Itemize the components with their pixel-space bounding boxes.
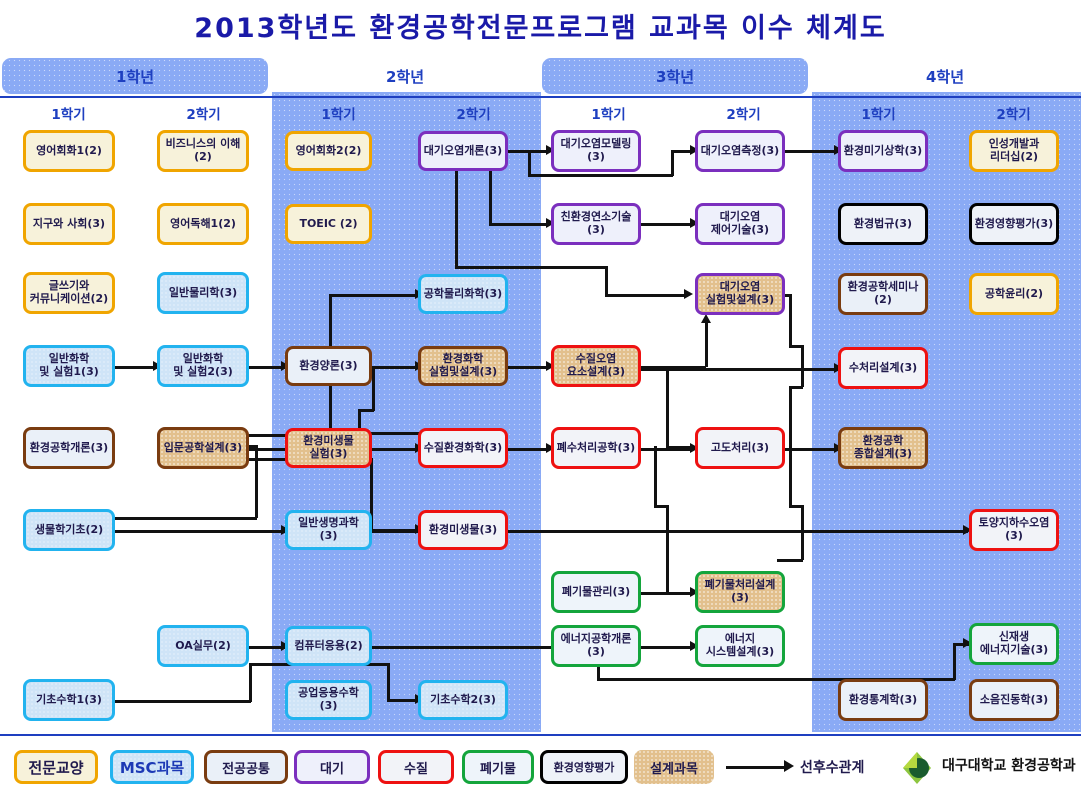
legend-item-eia[interactable]: 환경영향평가 xyxy=(540,750,628,784)
edge-airlab-spine-v3 xyxy=(789,386,792,506)
course-node[interactable]: 환경공학세미나(2) xyxy=(838,273,928,315)
edge-combust-control xyxy=(641,223,693,226)
course-node[interactable]: 기초수학2(3) xyxy=(418,680,508,720)
legend-item-air[interactable]: 대기 xyxy=(294,750,370,784)
course-node[interactable]: 대기오염개론(3) xyxy=(418,131,508,171)
course-node[interactable]: 신재생에너지기술(3) xyxy=(969,623,1059,665)
edge-oa-computer xyxy=(249,646,285,649)
course-node[interactable]: 폐기물처리설계(3) xyxy=(695,571,785,613)
edge-envchemlab-waterdesign xyxy=(508,366,548,369)
edge-airintro-airlab-h1 xyxy=(455,266,607,269)
course-node[interactable]: 컴퓨터응용(2) xyxy=(285,626,372,666)
course-node[interactable]: 수질환경화학(3) xyxy=(418,428,508,468)
legend-item-design[interactable]: 설계과목 xyxy=(634,750,714,784)
edge-waterdesign-airlab-v xyxy=(705,322,708,367)
edge-introdesign-down xyxy=(255,445,258,518)
legend-item-waste[interactable]: 폐기물 xyxy=(462,750,534,784)
course-node[interactable]: 토양지하수오염(3) xyxy=(969,509,1059,551)
edge-math2-h xyxy=(387,699,417,702)
legend-item-water[interactable]: 수질 xyxy=(378,750,454,784)
course-node[interactable]: 비즈니스의 이해(2) xyxy=(157,130,249,172)
page-title: 2013학년도 환경공학전문프로그램 교과목 이수 체계도 xyxy=(0,6,1081,45)
course-node[interactable]: 대기오염측정(3) xyxy=(695,130,785,172)
edge-airintro-meas-h1 xyxy=(528,174,673,177)
edge-waterdesign-waterplant xyxy=(641,368,838,371)
edge-airintro-airlab-v2 xyxy=(605,266,608,294)
legend-divider xyxy=(0,734,1081,736)
course-node[interactable]: 에너지공학개론(3) xyxy=(551,625,641,667)
edge-math2-v xyxy=(387,663,390,700)
edge-envstoich-waterchem-v1 xyxy=(329,386,332,434)
semester-header-3-1: 1학기 xyxy=(542,98,675,128)
course-node[interactable]: 일반생명과학(3) xyxy=(285,510,372,550)
edge-airlab-spine-h5 xyxy=(777,559,803,562)
edge-envstoich-envchemlab xyxy=(372,366,418,369)
edge-airintro-combust-v xyxy=(489,170,492,224)
course-node[interactable]: 환경미생물실험(3) xyxy=(285,428,372,468)
course-node[interactable]: 일반화학및 실험1(3) xyxy=(23,345,115,387)
course-node[interactable]: 대기오염모델링(3) xyxy=(551,130,641,172)
edge-biobasic-lifesci xyxy=(115,530,285,533)
year-header-3: 3학년 xyxy=(542,58,808,94)
course-node[interactable]: 영어회화2(2) xyxy=(285,131,372,171)
course-node[interactable]: 폐수처리공학(3) xyxy=(551,427,641,469)
course-node[interactable]: 환경통계학(3) xyxy=(838,679,928,721)
edge-wastewater-advanced xyxy=(641,448,693,451)
course-node[interactable]: 소음진동학(3) xyxy=(969,679,1059,721)
course-node[interactable]: 영어독해1(2) xyxy=(157,203,249,245)
edge-spine-mid-v xyxy=(666,505,669,593)
course-node[interactable]: 일반화학및 실험2(3) xyxy=(157,345,249,387)
course-node[interactable]: 환경공학개론(3) xyxy=(23,427,115,469)
semester-header-2-2: 2학기 xyxy=(407,98,540,128)
edge-airlab-spine-v1 xyxy=(789,294,792,346)
course-node[interactable]: 대기오염제어기술(3) xyxy=(695,203,785,245)
course-node[interactable]: OA실무(2) xyxy=(157,625,249,667)
edge-arrow xyxy=(701,314,711,323)
edge-waterchem-wastewater xyxy=(508,448,548,451)
course-node[interactable]: 글쓰기와커뮤니케이션(2) xyxy=(23,272,115,314)
edge-introdesign-to-bio xyxy=(115,517,257,520)
course-node[interactable]: 대기오염실험및설계(3) xyxy=(695,273,785,315)
course-node[interactable]: 환경공학종합설계(3) xyxy=(838,427,928,469)
legend-arrow-line xyxy=(726,766,786,769)
edge-envstoich-physchem-h xyxy=(329,294,419,297)
edge-arrow xyxy=(684,289,693,299)
edge-chem2-envstoich xyxy=(249,366,285,369)
course-node[interactable]: TOEIC (2) xyxy=(285,204,372,244)
course-node[interactable]: 환경양론(3) xyxy=(285,346,372,386)
course-node[interactable]: 일반물리학(3) xyxy=(157,272,249,314)
course-node[interactable]: 환경영향평가(3) xyxy=(969,203,1059,245)
course-node[interactable]: 환경화학실험및설계(3) xyxy=(418,346,508,386)
edge-airlab-spine-v4 xyxy=(801,505,804,560)
edge-waterdesign-advanced-v xyxy=(666,368,669,448)
year-header-4: 4학년 xyxy=(812,58,1078,94)
edge-airintro-airlab-v1 xyxy=(455,170,458,268)
semester-header-4-2: 2학기 xyxy=(947,98,1080,128)
edge-math1-h1 xyxy=(115,700,251,703)
edge-airintro-meas-v2 xyxy=(671,150,674,176)
legend-item-major-common[interactable]: 전공공통 xyxy=(204,750,288,784)
legend-arrow-label: 선후수관계 xyxy=(800,757,864,777)
edge-airlab-spine-v2 xyxy=(801,345,804,387)
university-label: 대구대학교 환경공학과 xyxy=(942,755,1076,775)
edge-computer-energy xyxy=(372,646,556,649)
course-node[interactable]: 수처리설계(3) xyxy=(838,347,928,389)
course-node[interactable]: 영어회화1(2) xyxy=(23,130,115,172)
edge-lifesci-envmicro xyxy=(372,530,418,533)
course-node[interactable]: 환경법규(3) xyxy=(838,203,928,245)
legend-arrow-head xyxy=(784,760,794,772)
legend-item-liberal[interactable]: 전문교양 xyxy=(14,750,98,784)
course-node[interactable]: 환경미기상학(3) xyxy=(838,130,928,172)
semester-header-1-1: 1학기 xyxy=(2,98,135,128)
course-node[interactable]: 친환경연소기술(3) xyxy=(551,203,641,245)
edge-spine-mid-v2 xyxy=(654,446,657,506)
semester-header-2-1: 1학기 xyxy=(272,98,405,128)
edge-chem1-chem2 xyxy=(115,366,157,369)
edge-energy-energysys xyxy=(641,646,693,649)
course-node[interactable]: 고도처리(3) xyxy=(695,427,785,469)
course-node[interactable]: 기초수학1(3) xyxy=(23,679,115,721)
year-header-2: 2학년 xyxy=(272,58,538,94)
semester-header-3-2: 2학기 xyxy=(677,98,810,128)
course-node[interactable]: 환경미생물(3) xyxy=(418,510,508,550)
legend-item-msc[interactable]: MSC과목 xyxy=(110,750,194,784)
edge-energy-renew-v2 xyxy=(953,644,956,680)
edge-airintro-combust-h xyxy=(489,223,548,226)
course-node[interactable]: 에너지시스템설계(3) xyxy=(695,625,785,667)
year-header-1: 1학년 xyxy=(2,58,268,94)
university-logo-icon xyxy=(897,748,937,788)
edge-math1-v xyxy=(249,664,252,702)
edge-envstoich-physchem-v xyxy=(329,296,332,348)
edge-airintro-airlab-h2 xyxy=(605,294,687,297)
edge-envmicro-soilgw xyxy=(508,530,968,533)
edge-meas-micromet xyxy=(785,150,838,153)
semester-header-1-2: 2학기 xyxy=(137,98,270,128)
course-node[interactable]: 생물학기초(2) xyxy=(23,509,115,551)
course-node[interactable]: 수질오염요소설계(3) xyxy=(551,345,641,387)
semester-header-4-1: 1학기 xyxy=(812,98,945,128)
course-node[interactable]: 폐기물관리(3) xyxy=(551,571,641,613)
course-node[interactable]: 공학물리화학(3) xyxy=(418,274,508,314)
edge-envmicrolab-envchemlab-v2 xyxy=(372,366,375,411)
edge-advanced-capstone xyxy=(785,448,838,451)
course-node[interactable]: 입문공학설계(3) xyxy=(157,427,249,469)
edge-airintro-meas-v1 xyxy=(528,150,531,176)
course-node[interactable]: 공업응용수학(3) xyxy=(285,680,372,720)
course-node[interactable]: 지구와 사회(3) xyxy=(23,203,115,245)
course-node[interactable]: 공학윤리(2) xyxy=(969,273,1059,315)
course-node[interactable]: 인성개발과리더십(2) xyxy=(969,130,1059,172)
